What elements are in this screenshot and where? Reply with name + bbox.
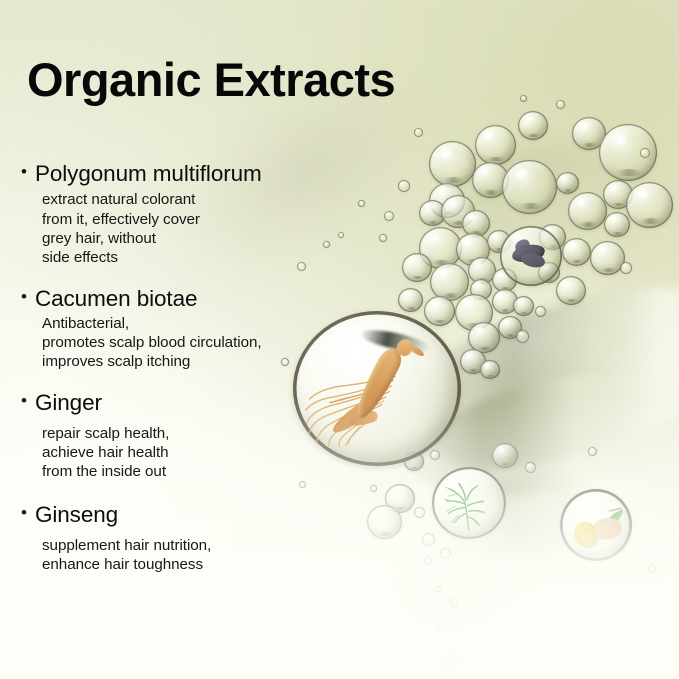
list-item-heading: • Ginger <box>21 389 340 416</box>
bullet-icon: • <box>21 392 27 409</box>
list-item: • Ginger repair scalp health, achieve ha… <box>0 389 340 481</box>
extract-name: Ginger <box>35 389 102 416</box>
list-item-heading: • Polygonum multiflorum <box>21 160 340 187</box>
list-item: • Cacumen biotae Antibacterial, promotes… <box>0 285 340 372</box>
list-item: • Ginseng supplement hair nutrition, enh… <box>0 501 340 574</box>
extract-name: Polygonum multiflorum <box>35 160 262 187</box>
poster-canvas: Organic Extracts • Polygonum multiflorum… <box>0 0 679 679</box>
bullet-icon: • <box>21 163 27 180</box>
list-item: • Polygonum multiflorum extract natural … <box>0 160 340 267</box>
list-item-heading: • Ginseng <box>21 501 340 528</box>
extracts-list: • Polygonum multiflorum extract natural … <box>0 160 340 587</box>
extract-description: repair scalp health, achieve hair health… <box>42 424 340 481</box>
extract-description: supplement hair nutrition, enhance hair … <box>42 536 340 574</box>
bullet-icon: • <box>21 288 27 305</box>
page-title: Organic Extracts <box>27 56 395 103</box>
extract-description: extract natural colorant from it, effect… <box>42 190 340 266</box>
list-item-heading: • Cacumen biotae <box>21 285 340 312</box>
extract-name: Ginseng <box>35 501 118 528</box>
extract-description: Antibacterial, promotes scalp blood circ… <box>42 314 340 371</box>
extract-name: Cacumen biotae <box>35 285 197 312</box>
bullet-icon: • <box>21 504 27 521</box>
